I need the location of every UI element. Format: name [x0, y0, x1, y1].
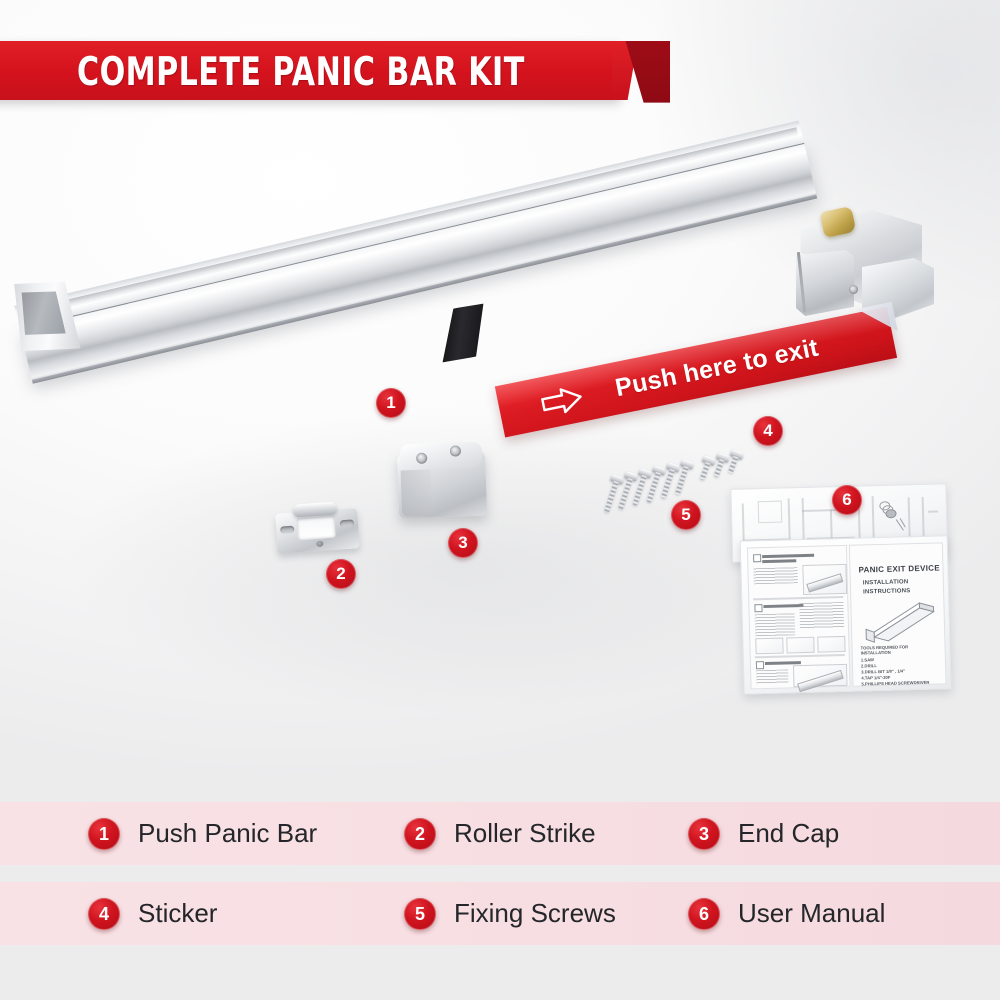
- legend-label-4: Sticker: [138, 898, 217, 929]
- callout-badge-4: 4: [753, 416, 783, 446]
- callout-badge-6: 6: [832, 485, 862, 515]
- roller-strike: [274, 494, 360, 556]
- callout-badge-3: 3: [448, 528, 478, 558]
- product-photo-scene: Push here to exit: [0, 0, 1000, 790]
- end-cap: [397, 441, 490, 522]
- legend-badge-5: 5: [404, 898, 436, 930]
- callout-badge-1: 1: [376, 388, 406, 418]
- end-cap-top: [400, 442, 483, 471]
- legend-item-roller-strike: 2 Roller Strike: [404, 802, 596, 865]
- manual-device-illustration-icon: [859, 598, 938, 644]
- end-cap-shading: [401, 469, 433, 516]
- legend-item-push-panic-bar: 1 Push Panic Bar: [88, 802, 317, 865]
- manual-main-sheet: PANIC EXIT DEVICE INSTALLATION INSTRUCTI…: [740, 535, 952, 694]
- panic-bar-rail: [14, 119, 814, 373]
- product-infographic: COMPLETE PANIC BAR KIT: [0, 0, 1000, 1000]
- manual-drill-bit-icon: [875, 497, 906, 532]
- manual-tools-heading-line2: INSTALLATION: [861, 650, 891, 656]
- manual-title: PANIC EXIT DEVICE: [858, 563, 940, 574]
- legend-label-3: End Cap: [738, 818, 839, 849]
- legend-badge-4: 4: [88, 898, 120, 930]
- manual-left-column: [747, 545, 851, 690]
- legend-label-1: Push Panic Bar: [138, 818, 317, 849]
- legend-row-1: 1 Push Panic Bar 2 Roller Strike 3 End C…: [0, 802, 1000, 865]
- legend-label-5: Fixing Screws: [454, 898, 616, 929]
- legend-label-2: Roller Strike: [454, 818, 596, 849]
- manual-tool-2: 2.DRILL: [861, 663, 877, 669]
- legend-item-fixing-screws: 5 Fixing Screws: [404, 882, 616, 945]
- manual-subtitle-line1: INSTALLATION: [863, 578, 909, 587]
- head-screw-icon: [849, 285, 858, 294]
- manual-tool-5: 5.PHILLIPS HEAD SCREWDRIVER: [861, 680, 929, 687]
- legend-badge-1: 1: [88, 818, 120, 850]
- manual-right-column: PANIC EXIT DEVICE INSTALLATION INSTRUCTI…: [849, 542, 947, 686]
- manual-subtitle-line2: INSTRUCTIONS: [863, 587, 911, 596]
- legend-row-2: 4 Sticker 5 Fixing Screws 6 User Manual: [0, 882, 1000, 945]
- legend-item-end-cap: 3 End Cap: [688, 802, 839, 865]
- legend-badge-3: 3: [688, 818, 720, 850]
- user-manual: PANIC EXIT DEVICE INSTALLATION INSTRUCTI…: [730, 483, 953, 695]
- roller-strike-slot-right: [340, 519, 354, 527]
- roller-strike-window: [296, 516, 335, 541]
- callout-badge-5: 5: [671, 500, 701, 530]
- legend-item-sticker: 4 Sticker: [88, 882, 217, 945]
- legend-badge-6: 6: [688, 898, 720, 930]
- legend-label-6: User Manual: [738, 898, 885, 929]
- callout-badge-2: 2: [326, 559, 356, 589]
- roller-strike-slot-left: [280, 526, 294, 534]
- legend-badge-2: 2: [404, 818, 436, 850]
- manual-tool-1: 1.SAW: [861, 657, 874, 663]
- legend-item-user-manual: 6 User Manual: [688, 882, 885, 945]
